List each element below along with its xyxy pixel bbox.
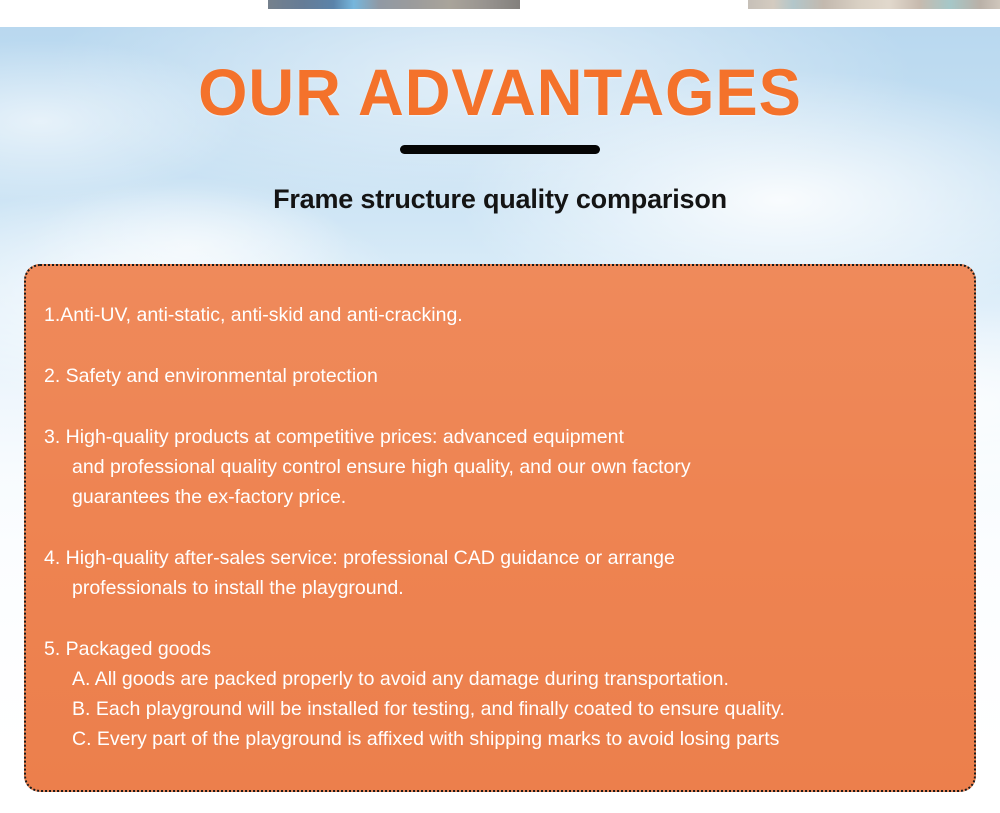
list-item: 5. Packaged goodsA. All goods are packed…: [44, 634, 956, 754]
list-item-line: professionals to install the playground.: [44, 573, 956, 603]
top-image-fragment-right: [748, 0, 1000, 9]
list-item-line: A. All goods are packed properly to avoi…: [44, 664, 956, 694]
list-item-line: 4. High-quality after-sales service: pro…: [44, 543, 956, 573]
top-image-fragment-left: [268, 0, 520, 9]
list-item-line: 2. Safety and environmental protection: [44, 361, 956, 391]
advantages-panel: 1.Anti-UV, anti-static, anti-skid and an…: [24, 264, 976, 792]
list-item: 4. High-quality after-sales service: pro…: [44, 543, 956, 603]
page-root: OUR ADVANTAGES Frame structure quality c…: [0, 0, 1000, 813]
page-title: OUR ADVANTAGES: [20, 27, 980, 125]
list-item-line: guarantees the ex-factory price.: [44, 482, 956, 512]
advantages-list: 1.Anti-UV, anti-static, anti-skid and an…: [44, 300, 956, 754]
title-divider: [400, 145, 600, 154]
list-item: 2. Safety and environmental protection: [44, 361, 956, 391]
page-subtitle: Frame structure quality comparison: [0, 154, 1000, 215]
list-item-line: 1.Anti-UV, anti-static, anti-skid and an…: [44, 300, 956, 330]
list-item-line: 5. Packaged goods: [44, 634, 956, 664]
list-item-line: 3. High-quality products at competitive …: [44, 422, 956, 452]
list-item: 3. High-quality products at competitive …: [44, 422, 956, 512]
list-item-line: and professional quality control ensure …: [44, 452, 956, 482]
list-item-line: C. Every part of the playground is affix…: [44, 724, 956, 754]
header: OUR ADVANTAGES Frame structure quality c…: [0, 27, 1000, 215]
list-item: 1.Anti-UV, anti-static, anti-skid and an…: [44, 300, 956, 330]
list-item-line: B. Each playground will be installed for…: [44, 694, 956, 724]
